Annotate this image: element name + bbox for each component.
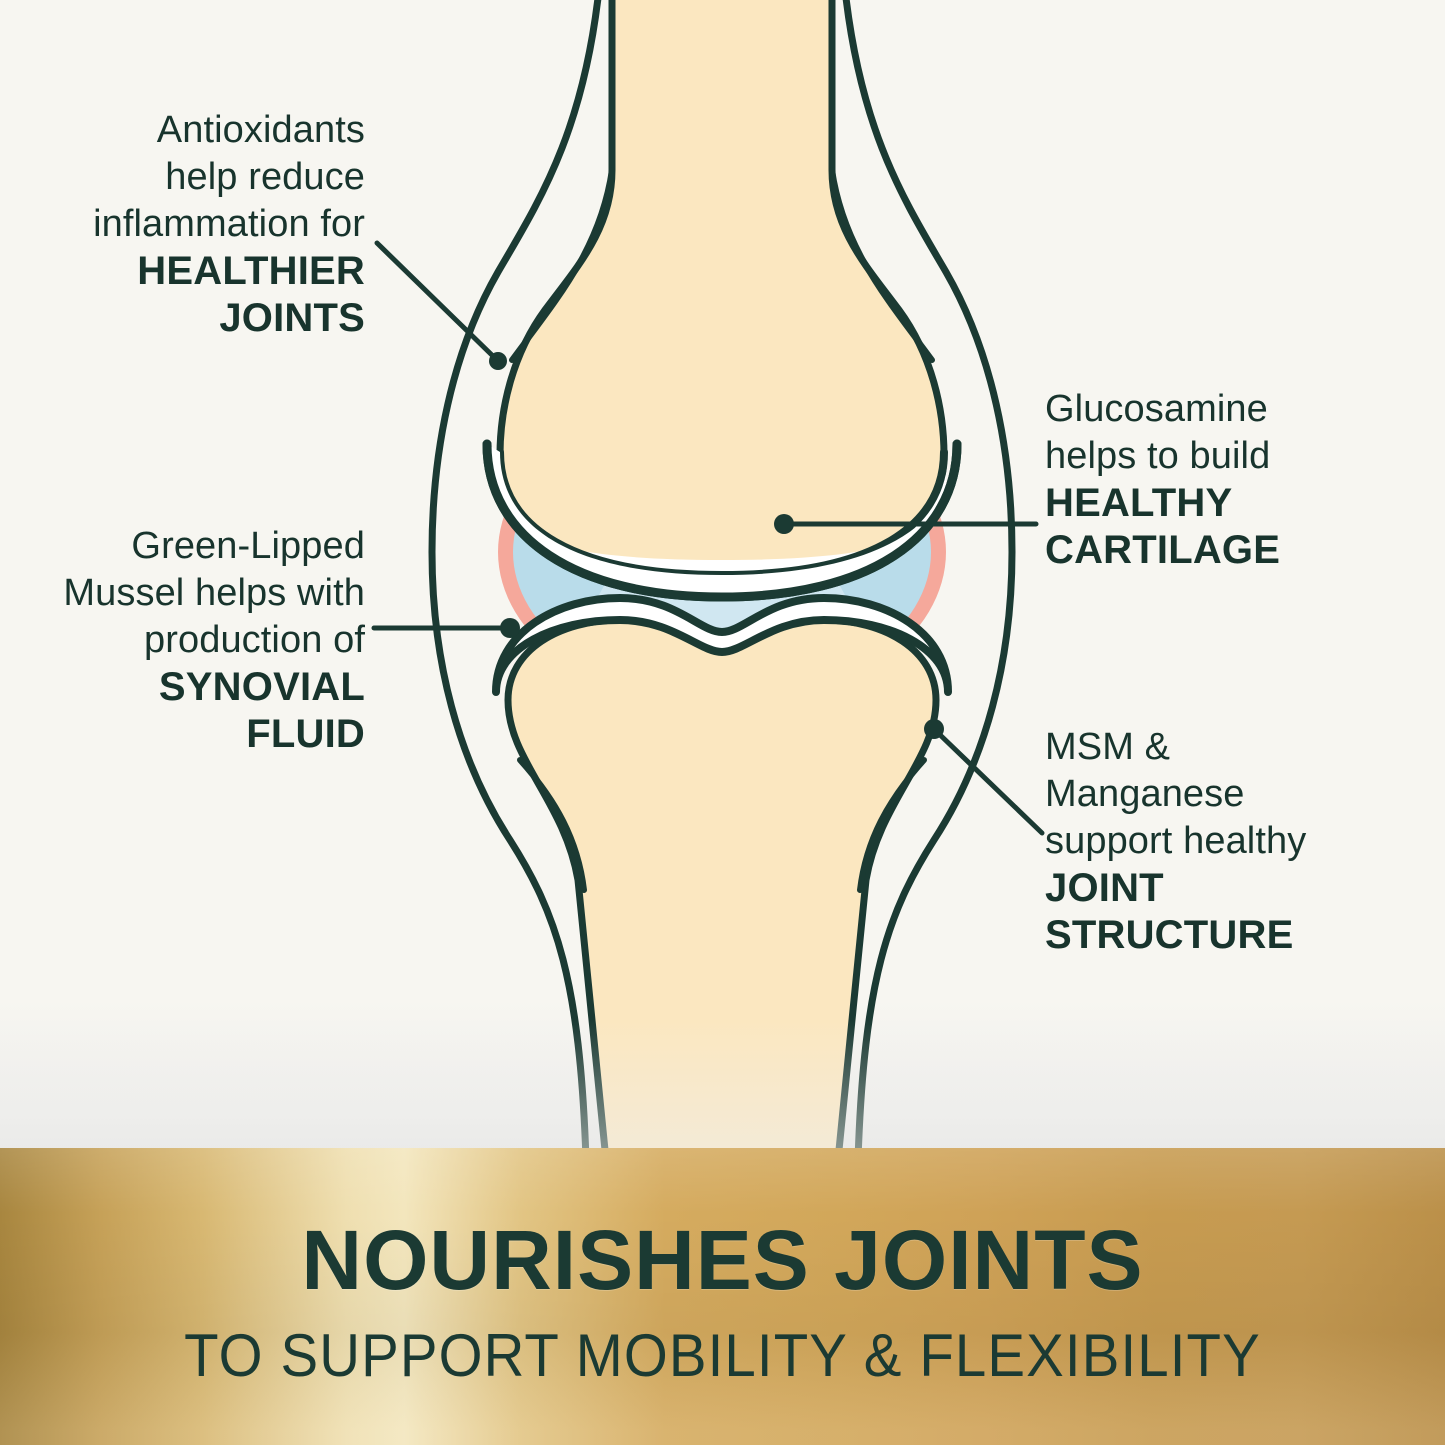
annotation-msm-manganese: MSM & Manganese support healthy JOINT ST…: [1045, 724, 1445, 959]
gold-banner: NOURISHES JOINTS TO SUPPORT MOBILITY & F…: [0, 1148, 1445, 1445]
leader-dot-glucosamine: [774, 514, 794, 534]
annotation-line: helps to build: [1045, 433, 1445, 480]
annotation-emphasis: HEALTHIER: [0, 248, 365, 295]
annotation-line: MSM &: [1045, 724, 1445, 771]
annotation-emphasis: FLUID: [0, 711, 365, 758]
infographic-canvas: Antioxidants help reduce inflammation fo…: [0, 0, 1445, 1445]
bone-bottom-fade: [0, 1020, 1445, 1160]
annotation-emphasis: JOINTS: [0, 295, 365, 342]
annotation-line: Manganese: [1045, 771, 1445, 818]
annotation-line: Glucosamine: [1045, 386, 1445, 433]
annotation-emphasis: STRUCTURE: [1045, 912, 1445, 959]
annotation-line: Antioxidants: [0, 107, 365, 154]
leader-dot-antioxidants: [489, 352, 507, 370]
annotation-line: production of: [0, 617, 365, 664]
annotation-line: inflammation for: [0, 201, 365, 248]
annotation-green-lipped-mussel: Green-Lipped Mussel helps with productio…: [0, 523, 365, 758]
annotation-emphasis: HEALTHY: [1045, 480, 1445, 527]
banner-subtitle: TO SUPPORT MOBILITY & FLEXIBILITY: [43, 1321, 1401, 1390]
annotation-emphasis: SYNOVIAL: [0, 664, 365, 711]
annotation-line: Green-Lipped: [0, 523, 365, 570]
annotation-line: help reduce: [0, 154, 365, 201]
annotation-antioxidants: Antioxidants help reduce inflammation fo…: [0, 107, 365, 342]
annotation-emphasis: JOINT: [1045, 865, 1445, 912]
leader-dot-mussel: [500, 618, 520, 638]
annotation-line: Mussel helps with: [0, 570, 365, 617]
leader-line-mussel: [374, 618, 520, 638]
annotation-line: support healthy: [1045, 818, 1445, 865]
leader-line-antioxidants: [377, 243, 507, 370]
annotation-glucosamine: Glucosamine helps to build HEALTHY CARTI…: [1045, 386, 1445, 574]
leader-dot-msm: [924, 719, 944, 739]
annotation-emphasis: CARTILAGE: [1045, 527, 1445, 574]
banner-title: NOURISHES JOINTS: [0, 1212, 1445, 1309]
